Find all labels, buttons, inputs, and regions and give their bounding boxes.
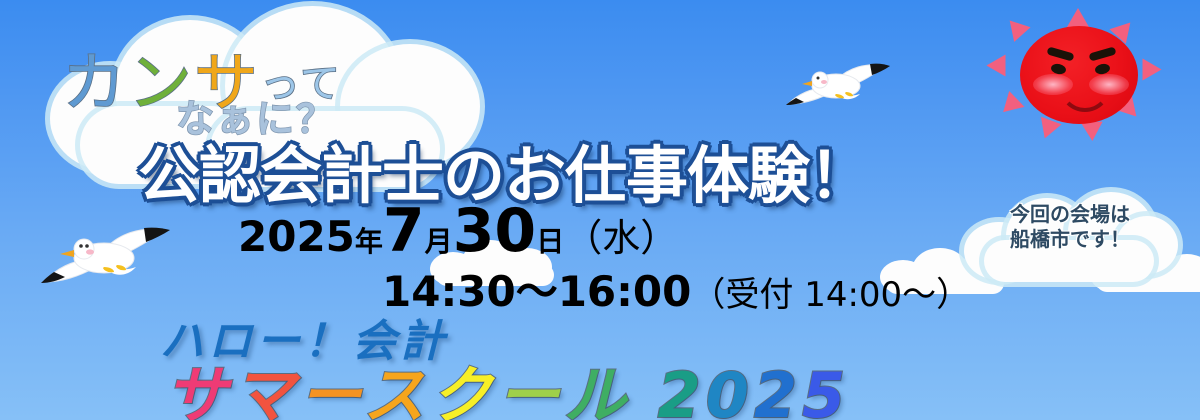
event-banner: カンサって なぁに？ 公認会計士のお仕事体験！ 2025年7月30日（水） 14…: [0, 0, 1200, 420]
venue-note-line1: 今回の会場は: [975, 202, 1165, 227]
brand-char-0: サ: [165, 359, 232, 420]
brand-char-10: 2: [754, 359, 802, 420]
date-month-unit: 月: [425, 225, 453, 258]
sun-icon: [985, 8, 1170, 148]
date-day: 30: [453, 196, 537, 266]
date-year-unit: 年: [355, 225, 383, 258]
tagline-char-ka: カ: [62, 47, 128, 121]
brand-char-8: 2: [658, 359, 706, 420]
venue-note-line2: 船橋市です！: [975, 227, 1165, 252]
brand-char-6: ル: [564, 359, 631, 420]
seagull-icon: [778, 52, 898, 122]
date-day-unit: 日: [536, 225, 564, 258]
time-reception: （受付 14:00〜）: [691, 275, 970, 315]
brand-char-11: 5: [802, 359, 850, 420]
brand-char-1: マ: [232, 359, 299, 420]
brand-char-7: [631, 359, 658, 420]
brand-char-5: ー: [497, 359, 564, 420]
event-time: 14:30〜16:00（受付 14:00〜）: [382, 258, 970, 319]
background-cloud: [1090, 246, 1200, 288]
brand-summer-school: サマースクール 2025: [165, 345, 850, 420]
venue-note: 今回の会場は 船橋市です！: [975, 202, 1165, 252]
date-month: 7: [383, 196, 425, 266]
date-year: 2025: [238, 212, 355, 261]
seagull-icon: [32, 214, 182, 306]
event-date: 2025年7月30日（水）: [238, 196, 678, 266]
brand-char-4: ク: [430, 359, 497, 420]
brand-char-2: ー: [299, 359, 363, 420]
date-weekday: （水）: [564, 216, 678, 260]
brand-char-9: 0: [706, 359, 754, 420]
brand-char-3: ス: [363, 359, 430, 420]
